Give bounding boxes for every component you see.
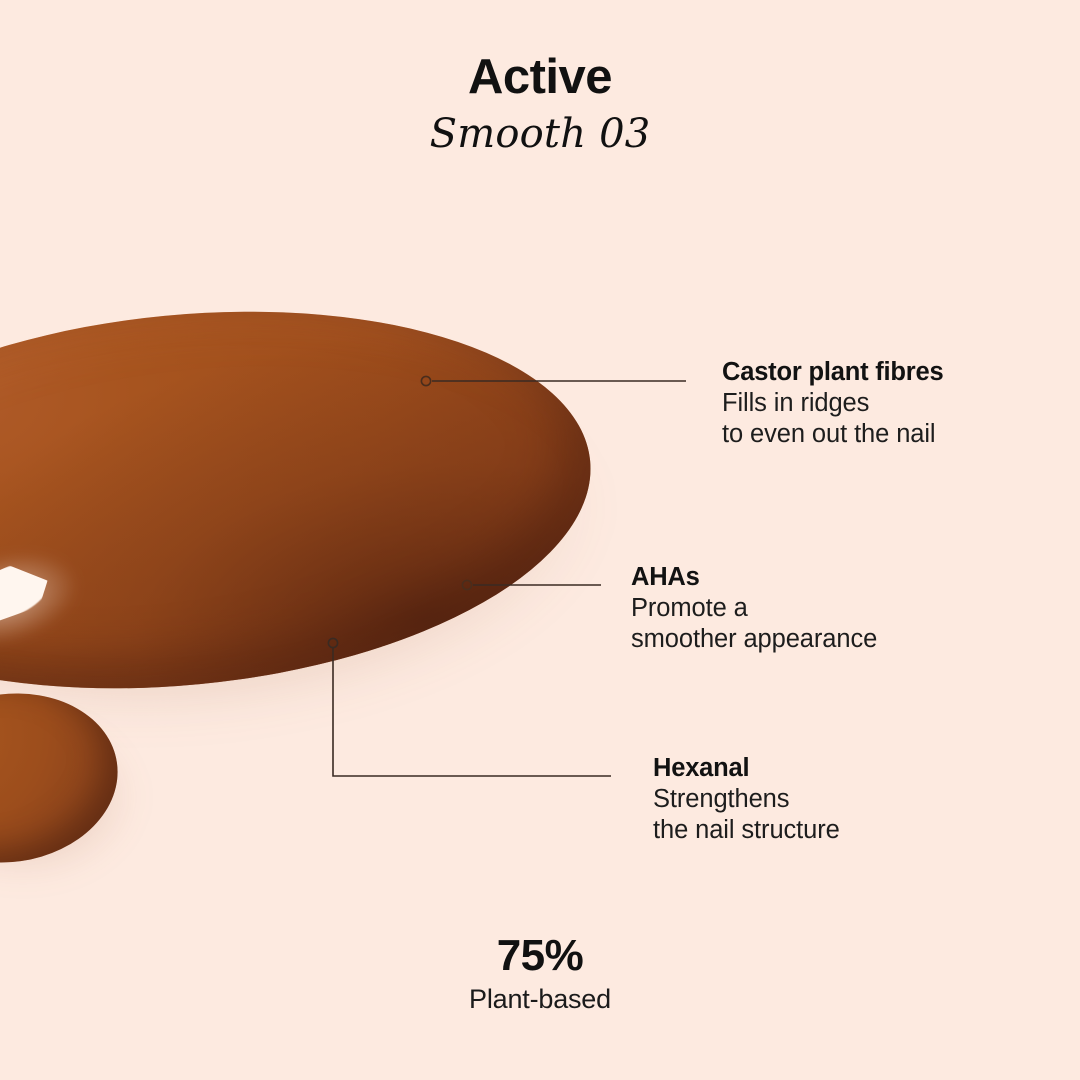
product-ingredient-infographic: Active Smooth 03 Castor plant fibres Fil…: [0, 0, 1080, 1080]
stat-value: 75%: [0, 932, 1080, 980]
leader-line-ahas: [462, 580, 601, 589]
leader-line-hexanal: [328, 638, 611, 776]
callout-castor-plant-fibres: Castor plant fibres Fills in ridges to e…: [722, 357, 944, 450]
callout-line: Promote a: [631, 593, 877, 624]
callout-title: Hexanal: [653, 753, 840, 784]
callout-line: the nail structure: [653, 815, 840, 846]
plant-based-stat: 75% Plant-based: [0, 932, 1080, 1017]
callout-line: smoother appearance: [631, 624, 877, 655]
callout-title: AHAs: [631, 562, 877, 593]
callout-hexanal: Hexanal Strengthens the nail structure: [653, 753, 840, 846]
leader-dot-ahas: [462, 580, 471, 589]
callout-line: Strengthens: [653, 784, 840, 815]
leader-dot-hexanal: [328, 638, 337, 647]
callout-title: Castor plant fibres: [722, 357, 944, 388]
callout-ahas: AHAs Promote a smoother appearance: [631, 562, 877, 655]
leader-lines: [0, 0, 1080, 1080]
leader-dot-castor: [421, 376, 430, 385]
callout-line: to even out the nail: [722, 419, 944, 450]
stat-label: Plant-based: [0, 983, 1080, 1017]
callout-line: Fills in ridges: [722, 388, 944, 419]
leader-line-castor: [421, 376, 686, 385]
